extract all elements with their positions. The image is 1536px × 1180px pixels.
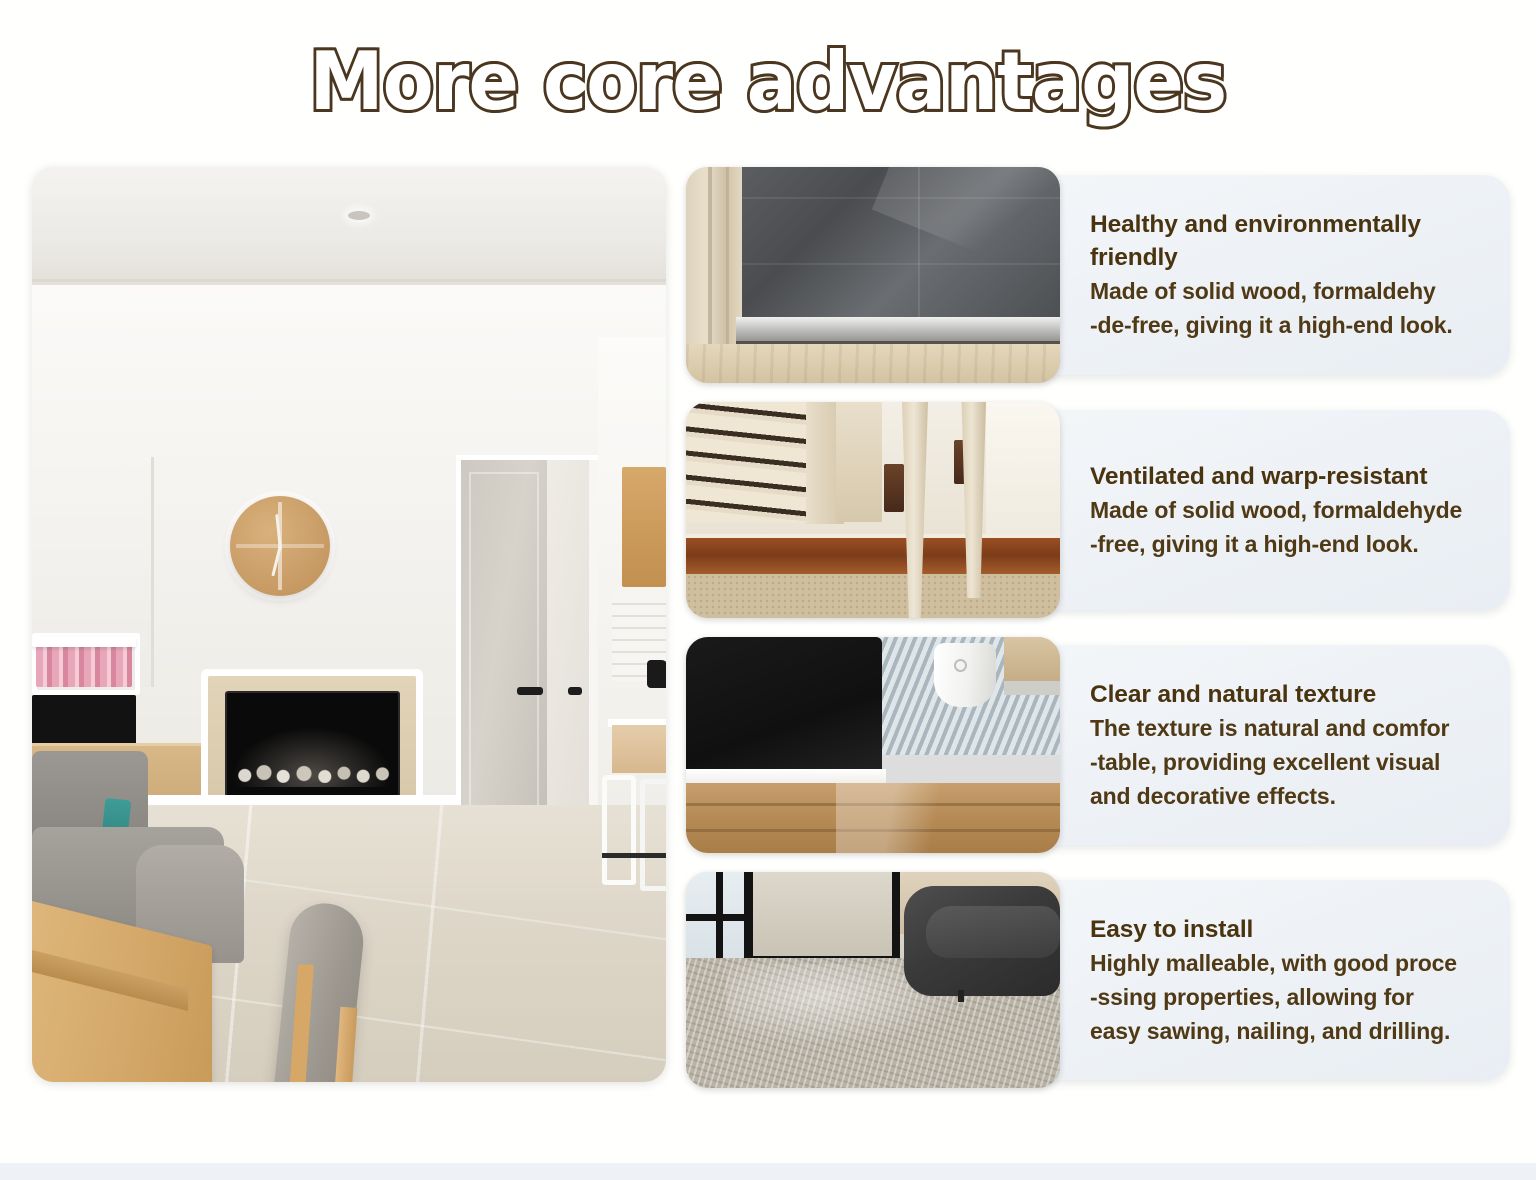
feature-body-line: and decorative effects.	[1090, 779, 1500, 813]
hero-room-photo	[32, 167, 666, 1082]
feature-title: Healthy and environmentally friendly	[1090, 208, 1500, 274]
door-handle-secondary	[568, 687, 582, 695]
armchair-arm	[926, 906, 1060, 958]
feature-thumb-install	[686, 872, 1060, 1088]
dark-recess-1	[884, 464, 904, 512]
kettle	[647, 660, 666, 688]
armchair-leg	[958, 990, 964, 1002]
feature-text: Healthy and environmentally friendly Mad…	[1090, 167, 1500, 383]
fireplace-pebbles	[232, 764, 392, 783]
floor-sheen	[836, 783, 956, 853]
metal-sill	[736, 317, 1060, 343]
feature-row: Ventilated and warp-resistant Made of so…	[686, 402, 1510, 618]
wall-right	[1004, 637, 1060, 685]
door-handle	[517, 687, 543, 695]
bar-stool-1	[602, 775, 636, 885]
white-wall	[986, 402, 1060, 542]
feature-text: Clear and natural texture The texture is…	[1090, 637, 1500, 853]
shelf	[32, 637, 136, 647]
counter-base	[612, 725, 666, 773]
page-title: More core advantages	[310, 37, 1227, 127]
feature-thumb-ventilated	[686, 402, 1060, 618]
ceiling	[32, 167, 666, 287]
black-panel	[686, 637, 882, 777]
power-button-icon	[954, 659, 967, 672]
baseboard-right	[1004, 681, 1060, 695]
door-frame-right	[892, 872, 900, 964]
feature-thumb-healthy	[686, 167, 1060, 383]
louvred-slats	[686, 402, 818, 522]
wood-panel	[836, 402, 882, 522]
dining-chair-frame	[278, 964, 401, 1082]
feature-title: Clear and natural texture	[1090, 678, 1500, 711]
wood-floor-grain	[686, 344, 1060, 383]
feature-body-line: The texture is natural and comfor	[1090, 711, 1500, 745]
title-bar: More core advantages	[0, 34, 1536, 130]
reddish-baseboard	[686, 538, 1060, 576]
feature-list: Healthy and environmentally friendly Mad…	[686, 167, 1510, 1087]
glass-door	[753, 872, 897, 964]
white-cylinder-appliance	[934, 643, 996, 707]
feature-title: Easy to install	[1090, 913, 1500, 946]
feature-thumb-texture	[686, 637, 1060, 853]
dark-shelf	[32, 695, 136, 749]
bar-stool-2	[640, 779, 666, 891]
feature-body-line: -free, giving it a high-end look.	[1090, 527, 1500, 561]
door-panel	[469, 472, 539, 824]
ceiling-edge	[32, 279, 666, 282]
feature-text: Ventilated and warp-resistant Made of so…	[1090, 402, 1500, 618]
kitchen-cabinet	[622, 467, 666, 587]
door-right	[547, 460, 589, 840]
feature-row: Healthy and environmentally friendly Mad…	[686, 167, 1510, 383]
feature-body-line: Made of solid wood, formaldehyde	[1090, 493, 1500, 527]
feature-body-line: Highly malleable, with good proce	[1090, 946, 1500, 980]
feature-row: Easy to install Highly malleable, with g…	[686, 872, 1510, 1088]
bottom-strip	[0, 1163, 1536, 1180]
advantages-page: More core advantages	[0, 0, 1536, 1180]
feature-body-line: -table, providing excellent visual	[1090, 745, 1500, 779]
feature-body-line: -de-free, giving it a high-end look.	[1090, 308, 1500, 342]
feature-body-line: Made of solid wood, formaldehy	[1090, 274, 1500, 308]
feature-title: Ventilated and warp-resistant	[1090, 460, 1500, 493]
feature-body-line: easy sawing, nailing, and drilling.	[1090, 1014, 1500, 1048]
feature-row: Clear and natural texture The texture is…	[686, 637, 1510, 853]
ceiling-downlight	[348, 211, 370, 220]
feature-body-line: -ssing properties, allowing for	[1090, 980, 1500, 1014]
bar-stool-footrest	[602, 853, 666, 858]
feature-text: Easy to install Highly malleable, with g…	[1090, 872, 1500, 1088]
carpet-floor	[686, 574, 1060, 618]
